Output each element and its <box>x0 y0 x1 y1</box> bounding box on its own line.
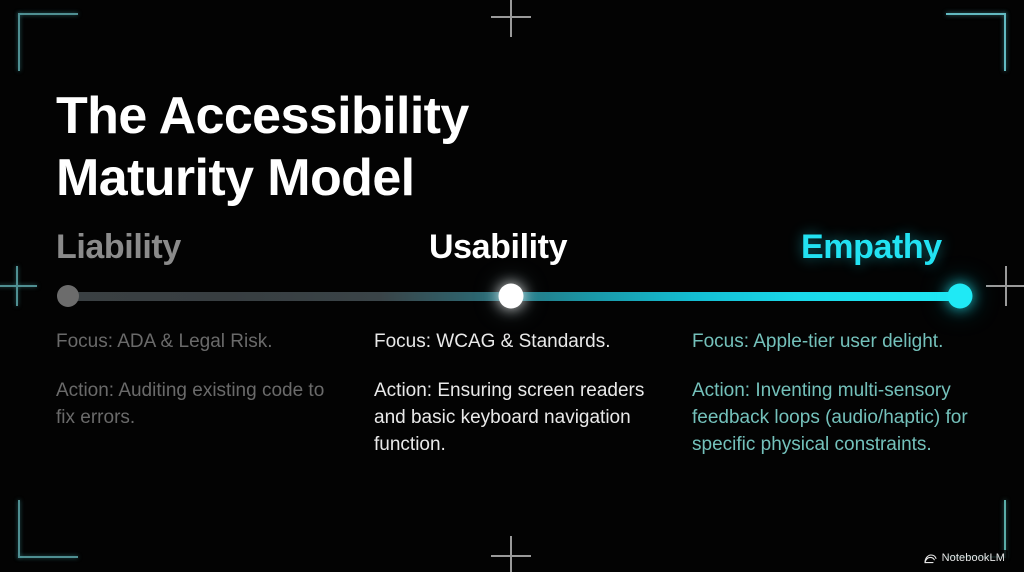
crosshair-arm-horizontal <box>0 285 37 287</box>
corner-bracket-top-right <box>946 13 1006 71</box>
corner-bracket-bottom-left <box>18 500 78 558</box>
page-title: The Accessibility Maturity Model <box>56 85 676 209</box>
crosshair-icon-top <box>491 0 531 37</box>
crosshair-arm-vertical <box>510 536 512 572</box>
notebooklm-watermark: NotebookLM <box>920 550 1008 566</box>
notebooklm-label: NotebookLM <box>942 552 1005 564</box>
bracket-line-horizontal <box>946 13 1006 15</box>
crosshair-arm-vertical <box>510 0 512 37</box>
crosshair-arm-vertical <box>1005 266 1007 306</box>
stage-action-liability: Action: Auditing existing code to fix er… <box>56 377 346 431</box>
maturity-track <box>60 288 968 304</box>
crosshair-arm-horizontal <box>491 16 531 18</box>
crosshair-arm-horizontal <box>491 555 531 557</box>
stage-focus-empathy: Focus: Apple-tier user delight. <box>692 328 980 355</box>
stage-label-liability: Liability <box>56 227 181 267</box>
crosshair-arm-horizontal <box>986 285 1024 287</box>
bracket-line-vertical <box>18 500 20 558</box>
crosshair-icon-bottom <box>491 536 531 572</box>
stage-action-usability: Action: Ensuring screen readers and basi… <box>374 377 666 458</box>
page-title-line-1: The Accessibility <box>56 85 676 147</box>
stage-label-empathy: Empathy <box>801 227 942 267</box>
stage-dot-empathy <box>948 284 973 309</box>
stage-details-usability: Focus: WCAG & Standards. Action: Ensurin… <box>374 328 666 458</box>
stage-focus-liability: Focus: ADA & Legal Risk. <box>56 328 346 355</box>
stage-details-empathy: Focus: Apple-tier user delight. Action: … <box>692 328 980 458</box>
stage-dot-usability <box>499 284 524 309</box>
bracket-line-vertical <box>1004 13 1006 71</box>
stage-focus-usability: Focus: WCAG & Standards. <box>374 328 666 355</box>
notebooklm-icon <box>924 553 937 564</box>
bracket-line-vertical <box>18 13 20 71</box>
crosshair-arm-vertical <box>16 266 18 306</box>
stage-action-empathy: Action: Inventing multi-sensory feedback… <box>692 377 980 458</box>
stage-dot-liability <box>57 285 79 307</box>
stage-details-liability: Focus: ADA & Legal Risk. Action: Auditin… <box>56 328 346 431</box>
crosshair-icon-left <box>0 266 37 306</box>
slide-canvas: The Accessibility Maturity Model Liabili… <box>0 0 1024 572</box>
stage-label-usability: Usability <box>429 227 567 267</box>
bracket-line-horizontal <box>18 13 78 15</box>
bracket-line-horizontal <box>18 556 78 558</box>
crosshair-icon-right <box>986 266 1024 306</box>
page-title-line-2: Maturity Model <box>56 147 676 209</box>
corner-bracket-top-left <box>18 13 78 71</box>
